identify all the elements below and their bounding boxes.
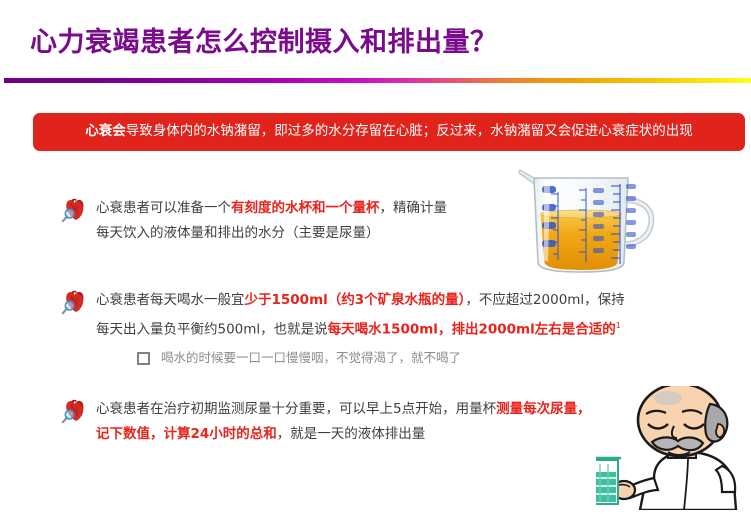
banner-text: 心衰会导致身体内的水钠潴留，即过多的水分存留在心脏；反过来，水钠潴留又会促进心衰… xyxy=(85,125,693,139)
page-title: 心力衰竭患者怎么控制摄入和排出量？ xyxy=(30,20,498,59)
banner-rest: 导致身体内的水钠潴留，即过多的水分存留在心脏；反过来，水钠潴留又会促进心衰症状的… xyxy=(126,123,693,139)
bullet-1-text: 心衰患者可以准备一个有刻度的水杯和一个量杯，精确计量 每天饮入的液体量和排出的水… xyxy=(96,196,447,246)
heart-magnifier-icon xyxy=(58,397,88,427)
bullet-1-highlight: 有刻度的水杯和一个量杯 xyxy=(231,200,380,216)
bullet-2-line-2: 每天出入量负平衡约500ml，也就是说每天喝水1500ml，排出2000ml左右… xyxy=(96,313,625,343)
heart-magnifier-icon xyxy=(58,288,88,318)
key-message-banner: 心衰会导致身体内的水钠潴留，即过多的水分存留在心脏；反过来，水钠潴留又会促进心衰… xyxy=(33,113,745,151)
bullet-2-line-1: 心衰患者每天喝水一般宜少于1500ml（约3个矿泉水瓶的量），不应超过2000m… xyxy=(96,288,625,313)
hollow-square-marker-icon xyxy=(137,352,150,365)
sub-bullet-1-text: 喝水的时候要一口一口慢慢咽，不觉得渴了，就不喝了 xyxy=(161,352,461,365)
banner-lead: 心衰会 xyxy=(85,123,126,139)
bullet-2-text: 心衰患者每天喝水一般宜少于1500ml（约3个矿泉水瓶的量），不应超过2000m… xyxy=(96,288,625,343)
heart-magnifier-icon xyxy=(58,196,88,226)
footnote-marker: 1 xyxy=(616,321,621,330)
bullet-3-line-1: 心衰患者在治疗初期监测尿量十分重要，可以早上5点开始，用量杯测量每次尿量， xyxy=(96,397,591,422)
bullet-2-highlight-1: 少于1500ml（约3个矿泉水瓶的量） xyxy=(245,292,466,308)
bullet-item-2: 心衰患者每天喝水一般宜少于1500ml（约3个矿泉水瓶的量），不应超过2000m… xyxy=(58,288,625,343)
bullet-1-line-2: 每天饮入的液体量和排出的水分（主要是尿量） xyxy=(96,221,447,246)
bullet-3-highlight-2: 记下数值，计算24小时的总和 xyxy=(96,426,277,442)
glass-measuring-cup-photo xyxy=(498,166,663,278)
title-gradient-divider xyxy=(4,78,751,83)
bullet-3-highlight-1: 测量每次尿量， xyxy=(496,401,591,417)
bullet-item-3: 心衰患者在治疗初期监测尿量十分重要，可以早上5点开始，用量杯测量每次尿量， 记下… xyxy=(58,397,591,447)
bullet-item-1: 心衰患者可以准备一个有刻度的水杯和一个量杯，精确计量 每天饮入的液体量和排出的水… xyxy=(58,196,447,246)
elderly-man-with-beaker-illustration xyxy=(596,386,751,510)
bullet-3-line-2: 记下数值，计算24小时的总和，就是一天的液体排出量 xyxy=(96,422,591,447)
sub-bullet-item-1: 喝水的时候要一口一口慢慢咽，不觉得渴了，就不喝了 xyxy=(137,352,461,365)
bullet-3-text: 心衰患者在治疗初期监测尿量十分重要，可以早上5点开始，用量杯测量每次尿量， 记下… xyxy=(96,397,591,447)
bullet-1-line-1: 心衰患者可以准备一个有刻度的水杯和一个量杯，精确计量 xyxy=(96,196,447,221)
bullet-2-highlight-2: 每天喝水1500ml，排出2000ml左右是合适的 xyxy=(328,322,616,338)
